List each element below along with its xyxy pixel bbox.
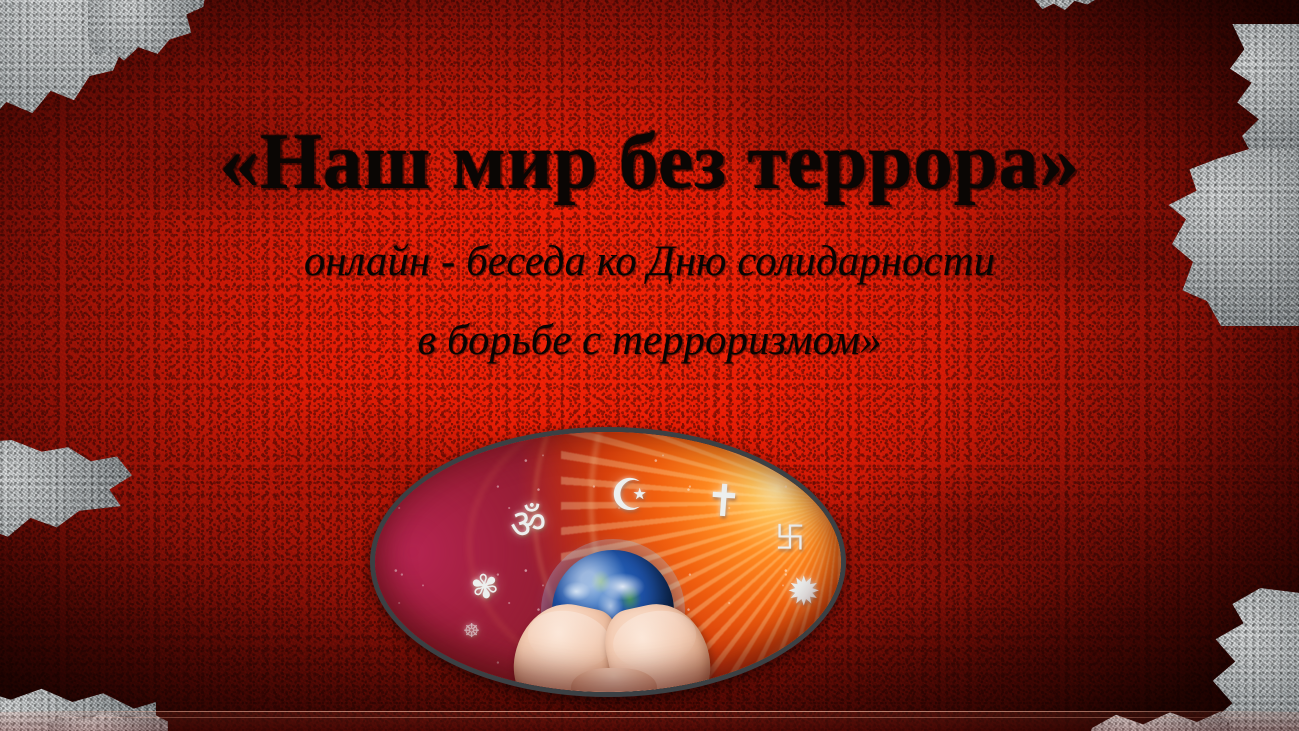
confucian-icon: 卐 xyxy=(775,524,803,554)
crescent-star-icon: ☪ xyxy=(610,474,649,518)
bottom-highlight-line-2 xyxy=(0,717,1299,718)
dharma-wheel-icon: ☸ xyxy=(463,622,480,641)
om-icon: ॐ xyxy=(508,502,548,546)
nine-pointed-star-icon: ✹ xyxy=(787,572,821,612)
illustration-image: ॐ ☪ ✝ 卐 ✹ ✾ ☸ xyxy=(375,432,841,692)
lotus-icon: ✾ xyxy=(468,568,501,605)
slide-title: «Наш мир без террора» xyxy=(0,122,1299,204)
illustration-oval-frame: ॐ ☪ ✝ 卐 ✹ ✾ ☸ xyxy=(370,427,846,697)
bottom-highlight-line-1 xyxy=(0,711,1299,712)
presentation-slide: «Наш мир без террора» онлайн - беседа ко… xyxy=(0,0,1299,731)
wrists xyxy=(571,668,657,692)
cross-icon: ✝ xyxy=(704,479,744,525)
subtitle-line-2: в борьбе с терроризмом» xyxy=(0,319,1299,362)
subtitle-line-1: онлайн - беседа ко Дню солидарности xyxy=(0,240,1299,283)
slide-subtitle: онлайн - беседа ко Дню солидарности в бо… xyxy=(0,240,1299,362)
bottom-band xyxy=(0,712,1299,731)
